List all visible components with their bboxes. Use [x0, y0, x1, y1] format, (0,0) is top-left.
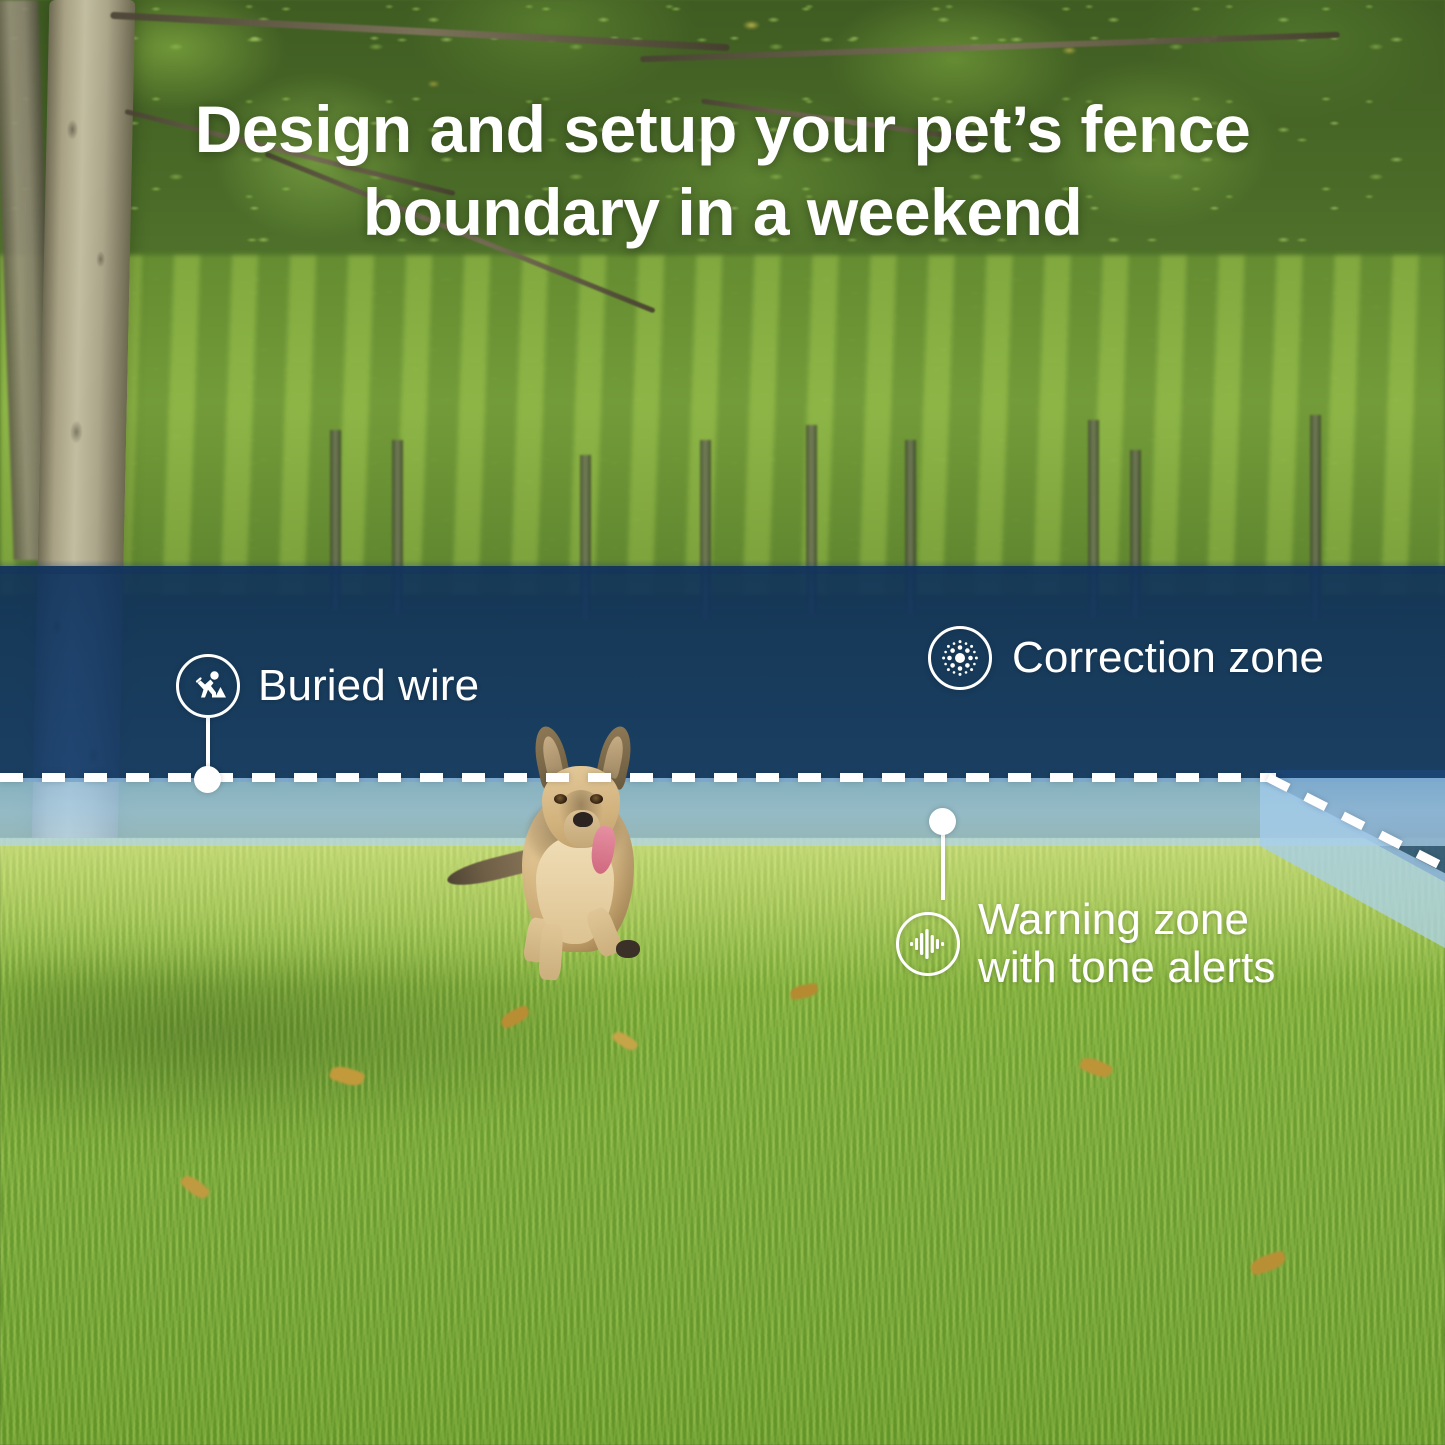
- dog-front-leg-left: [538, 923, 564, 980]
- marker-stem: [941, 828, 945, 900]
- dog-eye-left: [554, 794, 567, 804]
- marker-correction-zone[interactable]: Correction zone: [928, 626, 1324, 690]
- marker-label-buried-wire: Buried wire: [258, 661, 479, 710]
- marker-label-warning-zone-line2: with tone alerts: [978, 944, 1276, 992]
- marker-label-warning-zone-line1: Warning zone: [978, 896, 1276, 944]
- marker-label-correction-zone: Correction zone: [1012, 633, 1324, 682]
- promo-banner: Design and setup your pet’s fence bounda…: [0, 0, 1445, 1445]
- dog-nose: [573, 812, 593, 827]
- marker-anchor-dot: [194, 766, 221, 793]
- midground-treeline: [0, 255, 1445, 595]
- marker-anchor-dot: [929, 808, 956, 835]
- boundary-dashed-line: [0, 773, 1276, 782]
- digging-worker-icon: [176, 654, 240, 718]
- headline-line-1: Design and setup your pet’s fence: [195, 92, 1251, 166]
- sound-wave-icon: [896, 912, 960, 976]
- page-title: Design and setup your pet’s fence bounda…: [0, 88, 1445, 253]
- dog-eye-right: [590, 794, 603, 804]
- tree-shadow-on-lawn: [0, 960, 665, 1140]
- marker-buried-wire[interactable]: Buried wire: [176, 654, 479, 718]
- radial-burst-icon: [928, 626, 992, 690]
- dog-illustration: [440, 718, 710, 980]
- headline-line-2: boundary in a weekend: [363, 175, 1082, 249]
- marker-warning-zone[interactable]: Warning zone with tone alerts: [896, 896, 1276, 993]
- dog-paw: [616, 940, 640, 958]
